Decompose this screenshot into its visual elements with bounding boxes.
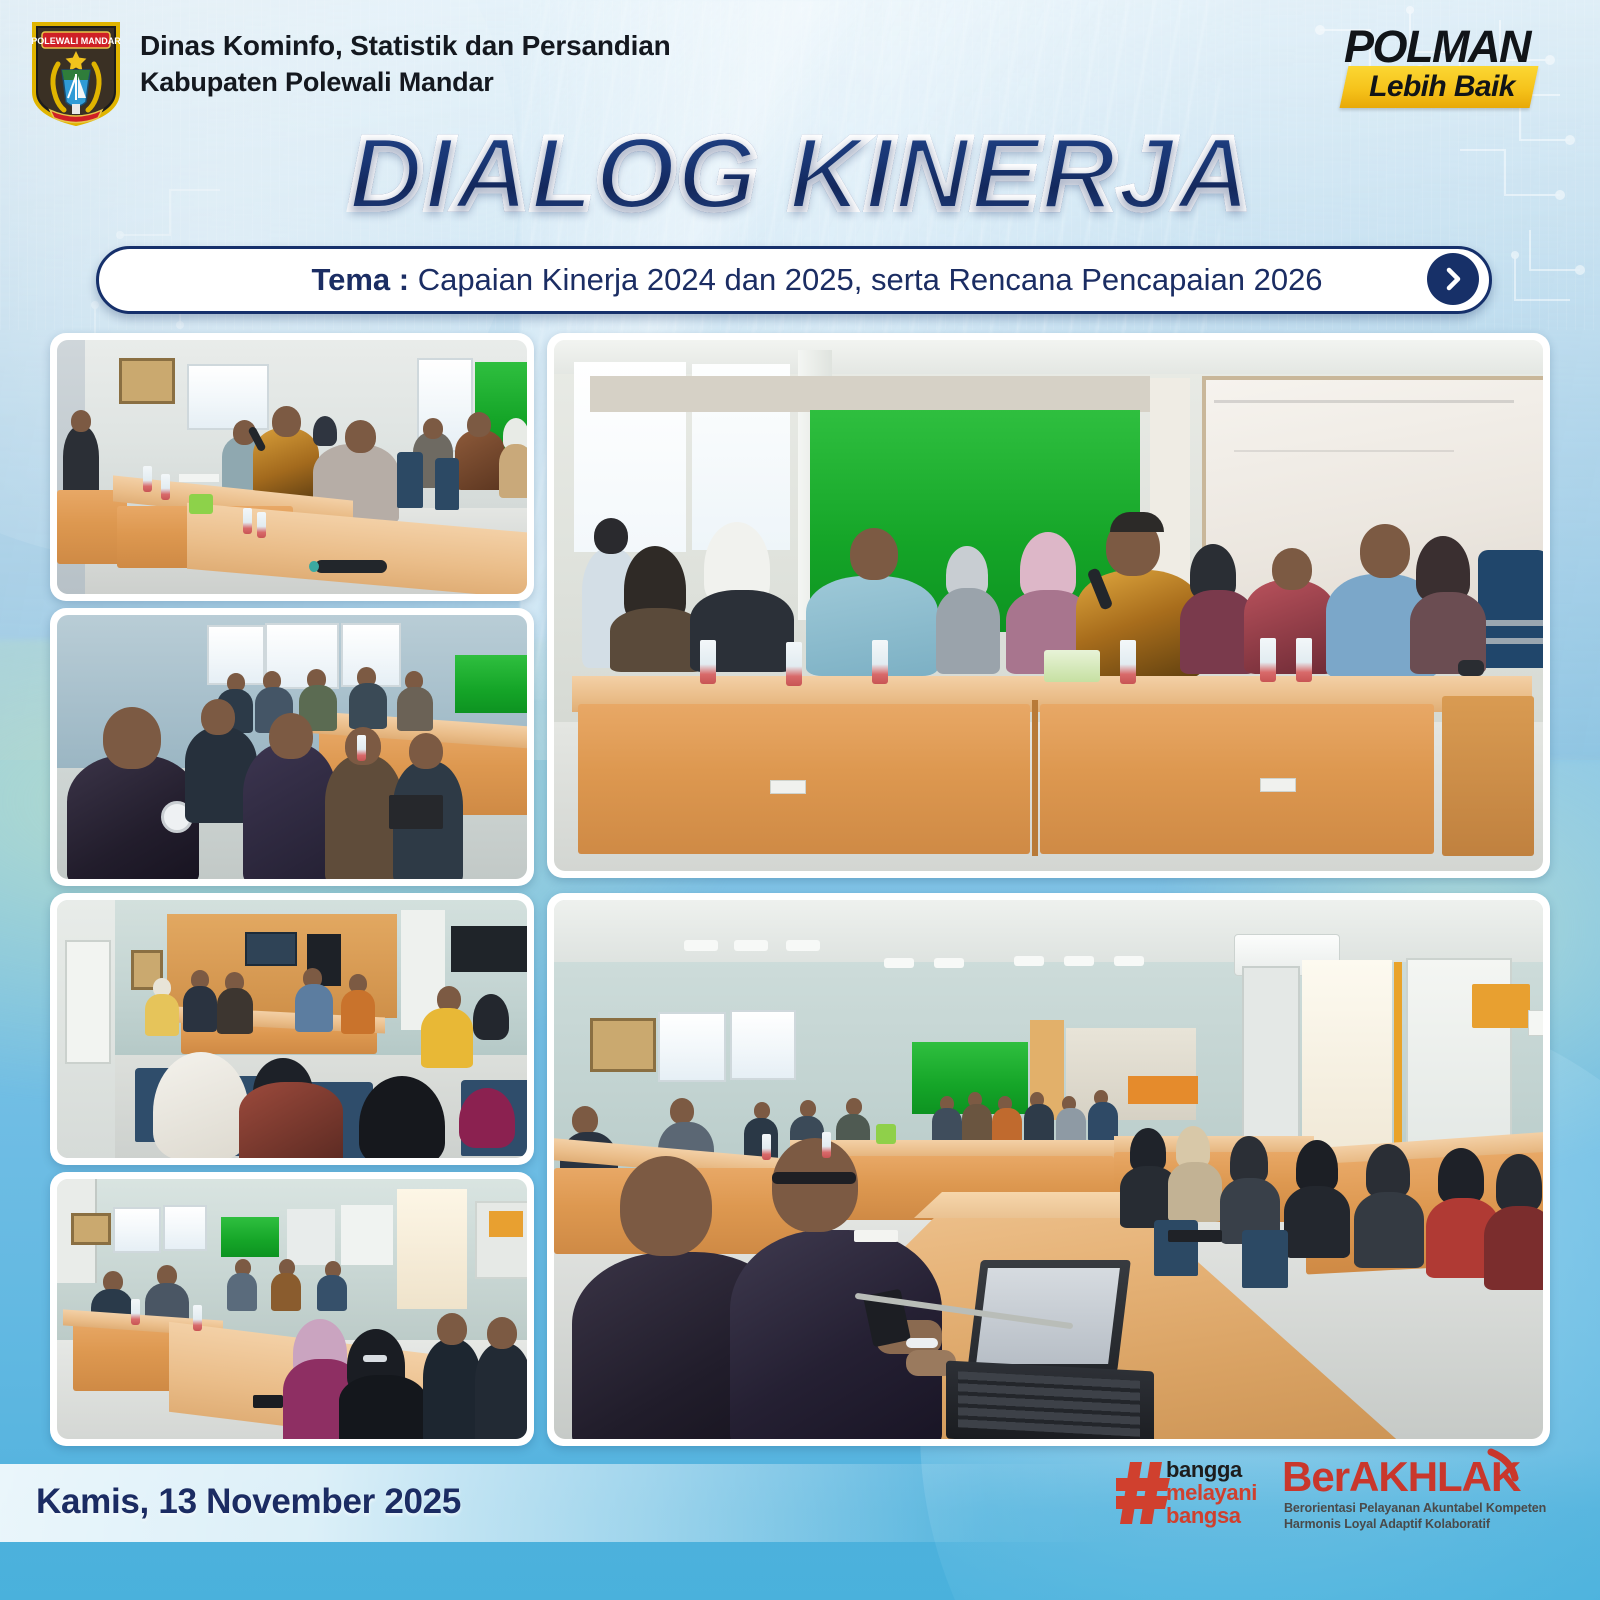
- polewali-mandar-crest-icon: POLEWALI MANDAR: [28, 18, 124, 126]
- page-header: POLEWALI MANDAR Dinas Kominfo, Statistik…: [0, 0, 1600, 128]
- bangga-word-2: melayani: [1166, 1481, 1257, 1504]
- berakhlak-logo: BerAKHLAK Berorientasi Pelayanan Akuntab…: [1282, 1454, 1522, 1538]
- photo-1-image: [57, 340, 527, 594]
- photo-5[interactable]: [547, 333, 1550, 878]
- bangga-wordmark: bangga melayani bangsa: [1166, 1458, 1257, 1527]
- theme-text: Tema : Capaian Kinerja 2024 dan 2025, se…: [99, 249, 1489, 311]
- theme-label: Tema :: [311, 262, 409, 297]
- berakhlak-tagline-line-1: Berorientasi Pelayanan Akuntabel Kompete…: [1284, 1500, 1546, 1516]
- org-line-2: Kabupaten Polewali Mandar: [140, 65, 671, 101]
- theme-banner: Tema : Capaian Kinerja 2024 dan 2025, se…: [96, 246, 1492, 314]
- theme-value: Capaian Kinerja 2024 dan 2025, serta Ren…: [418, 262, 1323, 297]
- photo-4-image: [57, 1179, 527, 1439]
- swoosh-icon: [1487, 1448, 1521, 1482]
- polman-lebih-baik-logo: POLMAN Lebih Baik: [1300, 22, 1530, 114]
- org-line-1: Dinas Kominfo, Statistik dan Persandian: [140, 28, 671, 65]
- event-date: Kamis, 13 November 2025: [36, 1482, 461, 1522]
- bangga-melayani-bangsa-logo: bangga melayani bangsa: [1116, 1456, 1256, 1530]
- organization-name: Dinas Kominfo, Statistik dan Persandian …: [140, 28, 671, 101]
- photo-1[interactable]: [50, 333, 534, 601]
- photo-6-image: [554, 900, 1543, 1439]
- photo-3-image: KOMINFO DINAS: [57, 900, 527, 1158]
- photo-2-image: [57, 615, 527, 879]
- polman-wordmark: POLMAN: [1300, 22, 1530, 72]
- hash-icon: [1116, 1462, 1172, 1524]
- berakhlak-tagline-line-2: Harmonis Loyal Adaptif Kolaboratif: [1284, 1516, 1546, 1532]
- svg-text:POLEWALI MANDAR: POLEWALI MANDAR: [31, 36, 121, 46]
- page-title-text: DIALOG KINERJA: [348, 116, 1252, 232]
- berakhlak-tagline: Berorientasi Pelayanan Akuntabel Kompete…: [1284, 1500, 1546, 1532]
- bangga-word-1: bangga: [1166, 1458, 1257, 1481]
- photo-4[interactable]: [50, 1172, 534, 1446]
- berakhlak-wordmark: BerAKHLAK: [1282, 1454, 1520, 1500]
- photo-6[interactable]: [547, 893, 1550, 1446]
- photo-5-image: [554, 340, 1543, 871]
- polman-tagline: Lebih Baik: [1352, 68, 1532, 106]
- photo-2[interactable]: [50, 608, 534, 886]
- photo-3[interactable]: KOMINFO DINAS: [50, 893, 534, 1165]
- poster-canvas: POLEWALI MANDAR Dinas Kominfo, Statistik…: [0, 0, 1600, 1600]
- page-title: DIALOG KINERJA: [0, 118, 1600, 230]
- chevron-right-icon[interactable]: [1427, 253, 1479, 305]
- bangga-word-3: bangsa: [1166, 1504, 1257, 1527]
